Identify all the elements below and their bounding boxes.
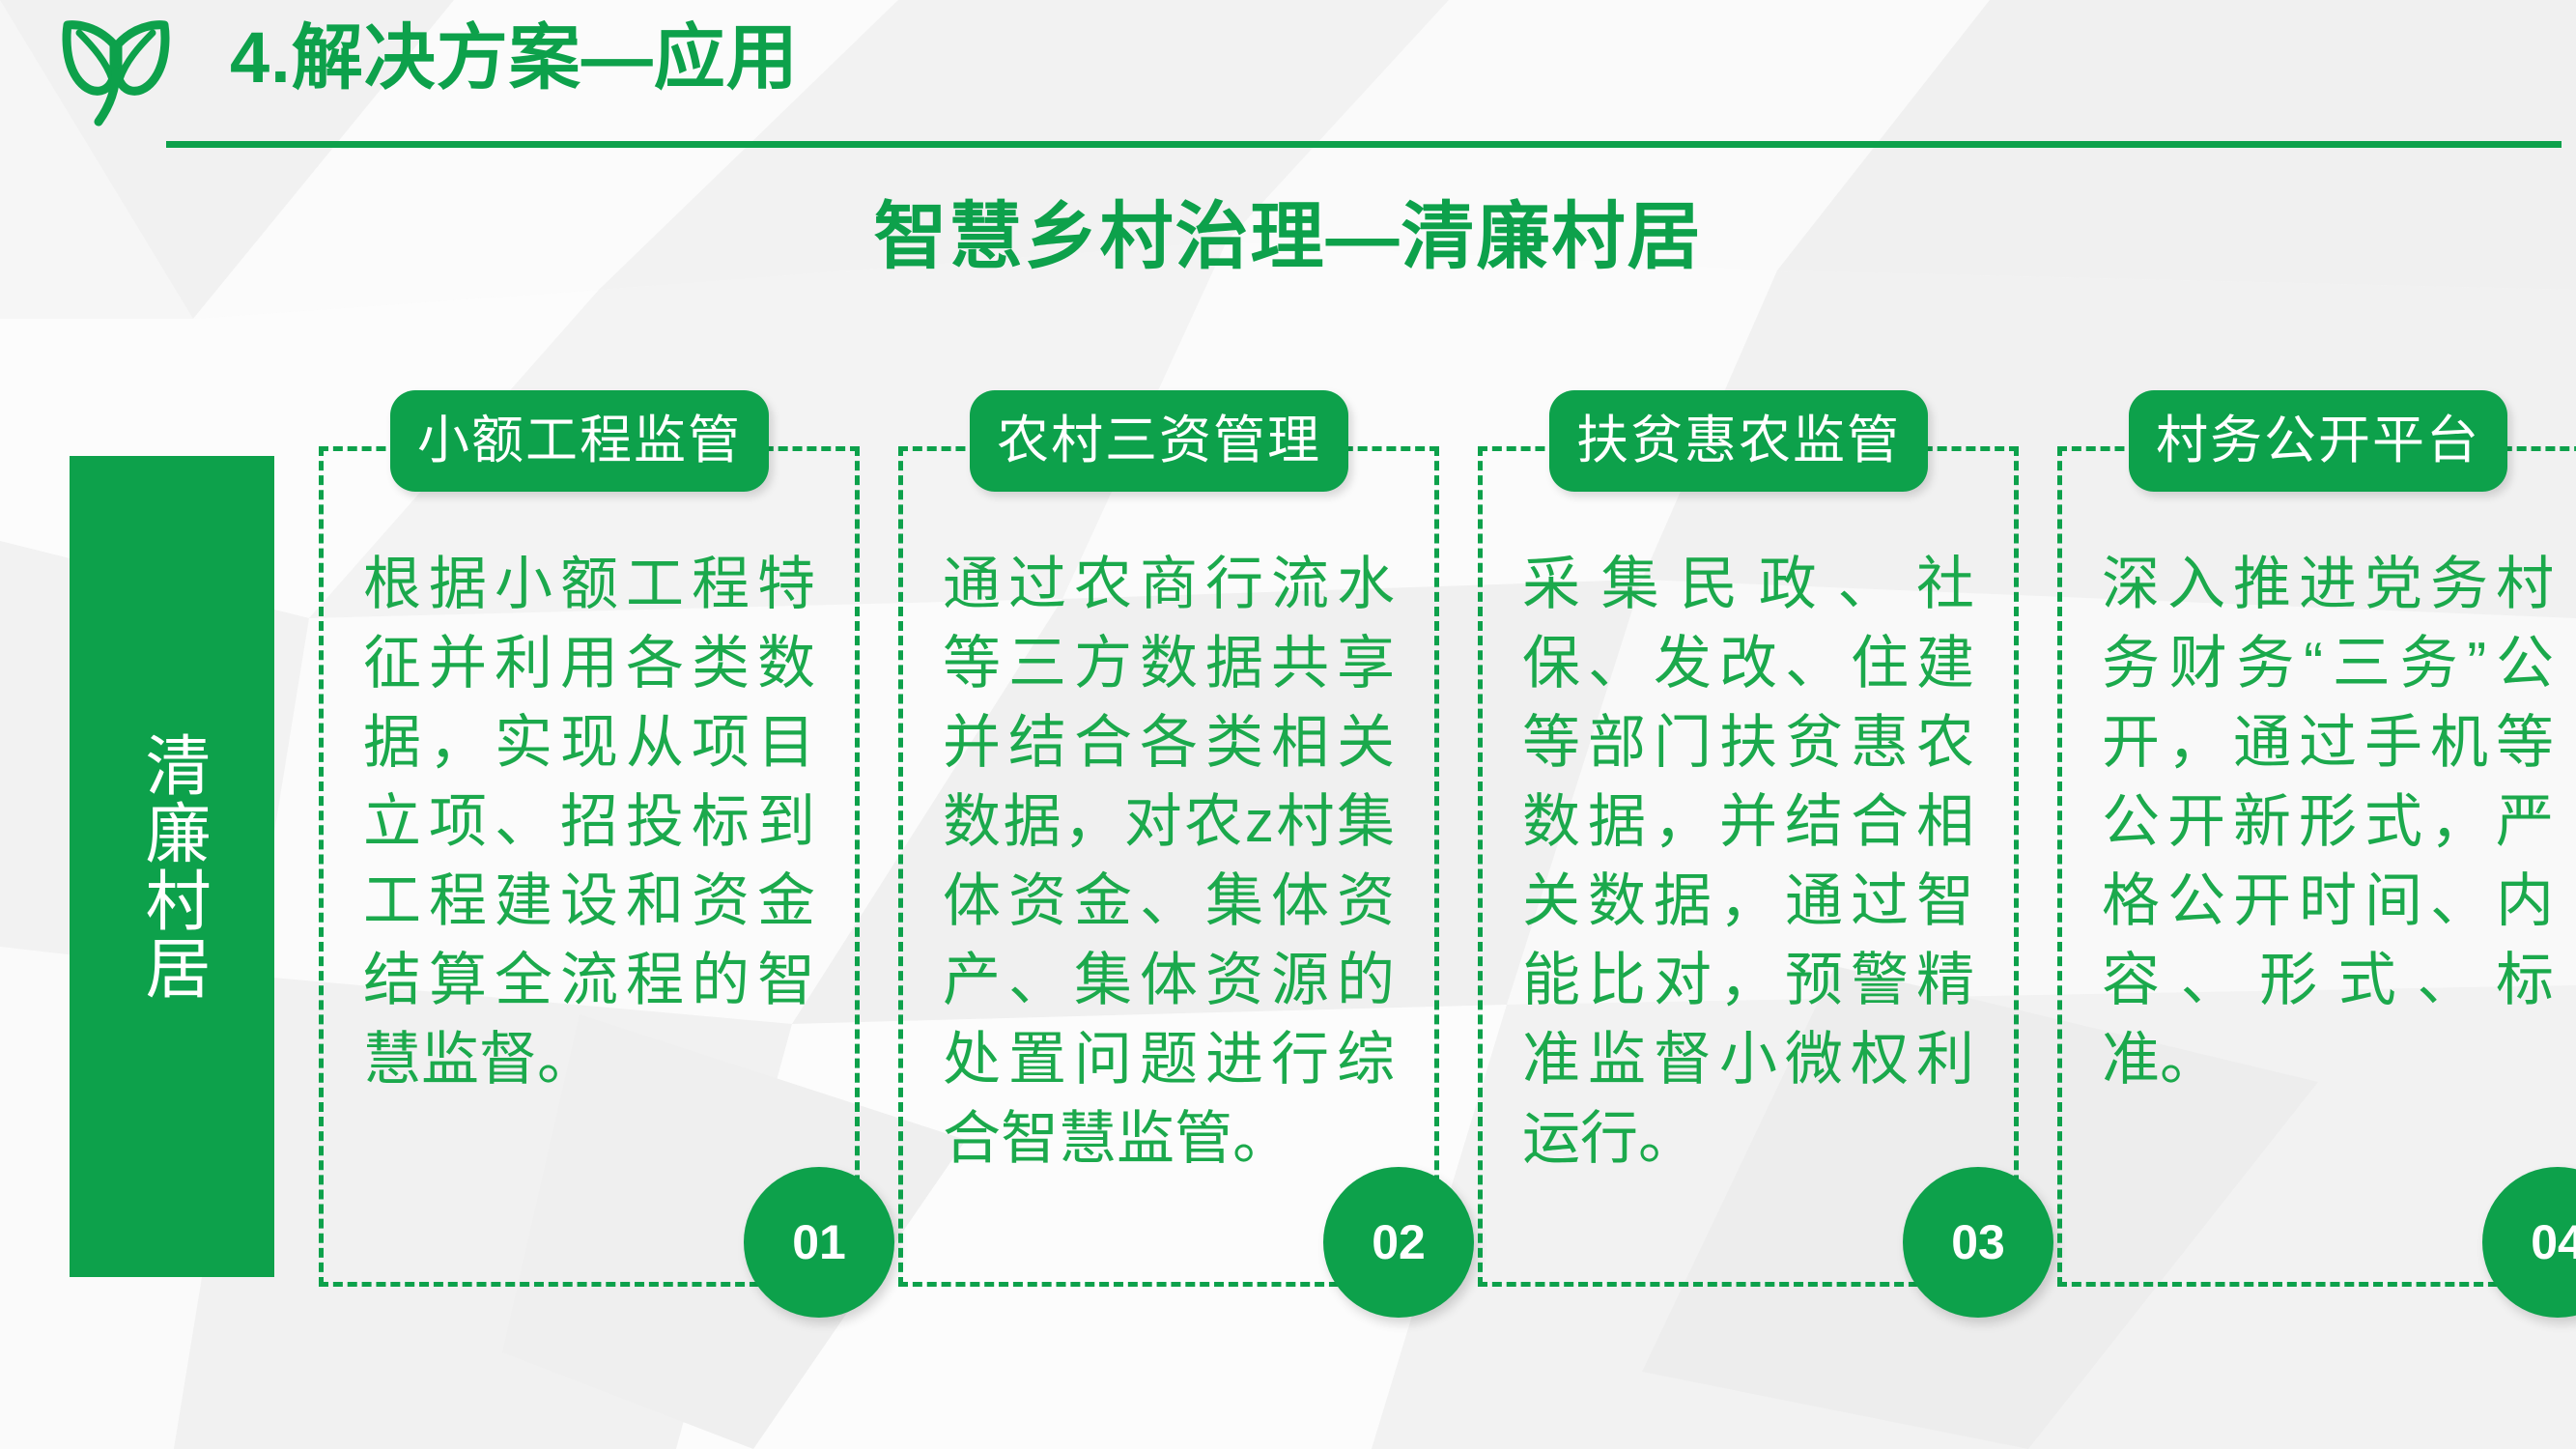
card-3-pill-label[interactable]: 扶贫惠农监管 [1549, 390, 1928, 492]
card-2-body-text: 通过农商行流水等三方数据共享并结合各类相关数据，对农z村集体资金、集体资产、集体… [943, 545, 1395, 1179]
card-3: 扶贫惠农监管 采集民政、社保、发改、住建等部门扶贫惠农数据，并结合相关数据，通过… [1478, 446, 2019, 1287]
card-2-badge: 02 [1323, 1167, 1474, 1318]
card-3-badge: 03 [1903, 1167, 2053, 1318]
page-title: 智慧乡村治理—清廉村居 [0, 189, 2576, 286]
card-4-body-text: 深入推进党务村务财务“三务”公开，通过手机等公开新形式，严格公开时间、内容、形式… [2102, 545, 2554, 1099]
side-bar-label: 清廉村居 [70, 456, 274, 1277]
card-3-body-text: 采集民政、社保、发改、住建等部门扶贫惠农数据，并结合相关数据，通过智能比对，预警… [1522, 545, 1974, 1179]
card-2-pill-label[interactable]: 农村三资管理 [970, 390, 1348, 492]
slide-header: 4.解决方案—应用 [0, 0, 2576, 155]
card-1: 小额工程监管 根据小额工程特征并利用各类数据，实现从项目立项、招投标到工程建设和… [319, 446, 860, 1287]
header-title: 4.解决方案—应用 [230, 15, 799, 100]
card-4-pill-label[interactable]: 村务公开平台 [2129, 390, 2507, 492]
card-4: 村务公开平台 深入推进党务村务财务“三务”公开，通过手机等公开新形式，严格公开时… [2057, 446, 2576, 1287]
card-1-badge: 01 [744, 1167, 894, 1318]
card-1-pill-label[interactable]: 小额工程监管 [390, 390, 769, 492]
leaf-icon [58, 14, 174, 129]
card-2: 农村三资管理 通过农商行流水等三方数据共享并结合各类相关数据，对农z村集体资金、… [898, 446, 1439, 1287]
slide-canvas: 4.解决方案—应用 智慧乡村治理—清廉村居 清廉村居 小额工程监管 根据小额工程… [0, 0, 2576, 1449]
header-divider [166, 141, 2562, 148]
side-bar: 清廉村居 [70, 456, 274, 1277]
card-1-body-text: 根据小额工程特征并利用各类数据，实现从项目立项、招投标到工程建设和资金结算全流程… [363, 545, 815, 1099]
